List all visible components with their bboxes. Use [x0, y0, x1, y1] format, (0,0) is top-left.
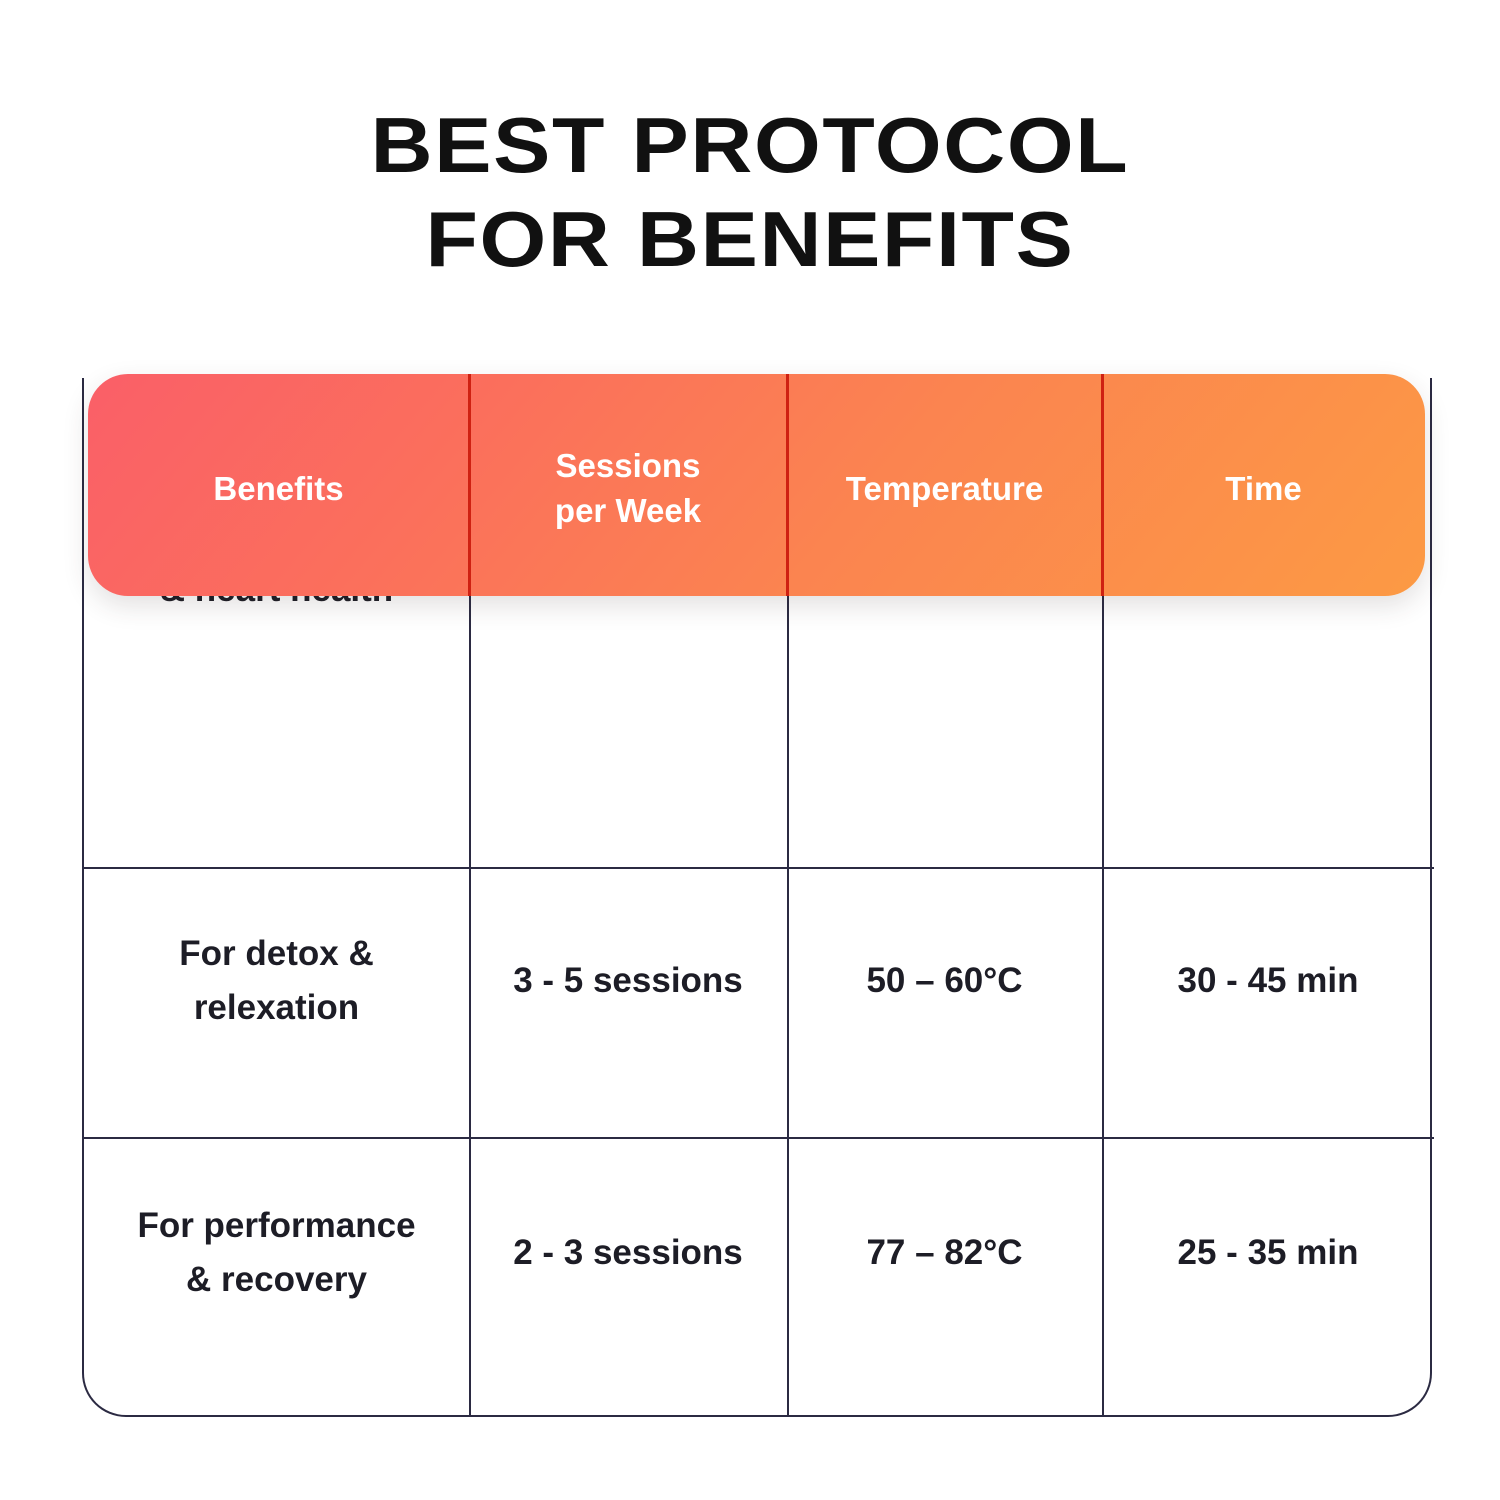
infographic-page: BEST PROTOCOL FOR BENEFITS For longevity…: [0, 0, 1500, 1500]
column-header-sessions-per-week: Sessions per Week: [469, 374, 787, 596]
benefit-line-1: For detox &: [179, 927, 373, 981]
page-title: BEST PROTOCOL FOR BENEFITS: [0, 98, 1500, 286]
cell-benefits: For performance & recovery: [84, 1139, 469, 1417]
cell-temperature: 50 – 60°C: [787, 869, 1102, 1137]
column-header-line-2: per Week: [555, 488, 701, 533]
column-header-benefits: Benefits: [88, 374, 469, 596]
cell-temperature: 77 – 82°C: [787, 1139, 1102, 1417]
column-header-line-1: Sessions: [555, 443, 701, 488]
benefit-line-2: & recovery: [137, 1253, 415, 1307]
cell-sessions: 2 - 3 sessions: [469, 1139, 787, 1417]
column-header-time: Time: [1102, 374, 1425, 596]
benefit-line-2: relexation: [179, 981, 373, 1035]
cell-benefits: For detox & relexation: [84, 869, 469, 1137]
table-row: For performance & recovery 2 - 3 session…: [84, 1139, 1434, 1417]
page-title-line-1: BEST PROTOCOL: [0, 98, 1500, 192]
page-title-line-2: FOR BENEFITS: [0, 192, 1500, 286]
column-header-temperature: Temperature: [787, 374, 1102, 596]
cell-time: 30 - 45 min: [1102, 869, 1434, 1137]
table-header: Benefits Sessions per Week Temperature T…: [88, 374, 1425, 596]
cell-time: 25 - 35 min: [1102, 1139, 1434, 1417]
benefit-line-1: For performance: [137, 1199, 415, 1253]
cell-sessions: 3 - 5 sessions: [469, 869, 787, 1137]
table-row: For detox & relexation 3 - 5 sessions 50…: [84, 869, 1434, 1137]
